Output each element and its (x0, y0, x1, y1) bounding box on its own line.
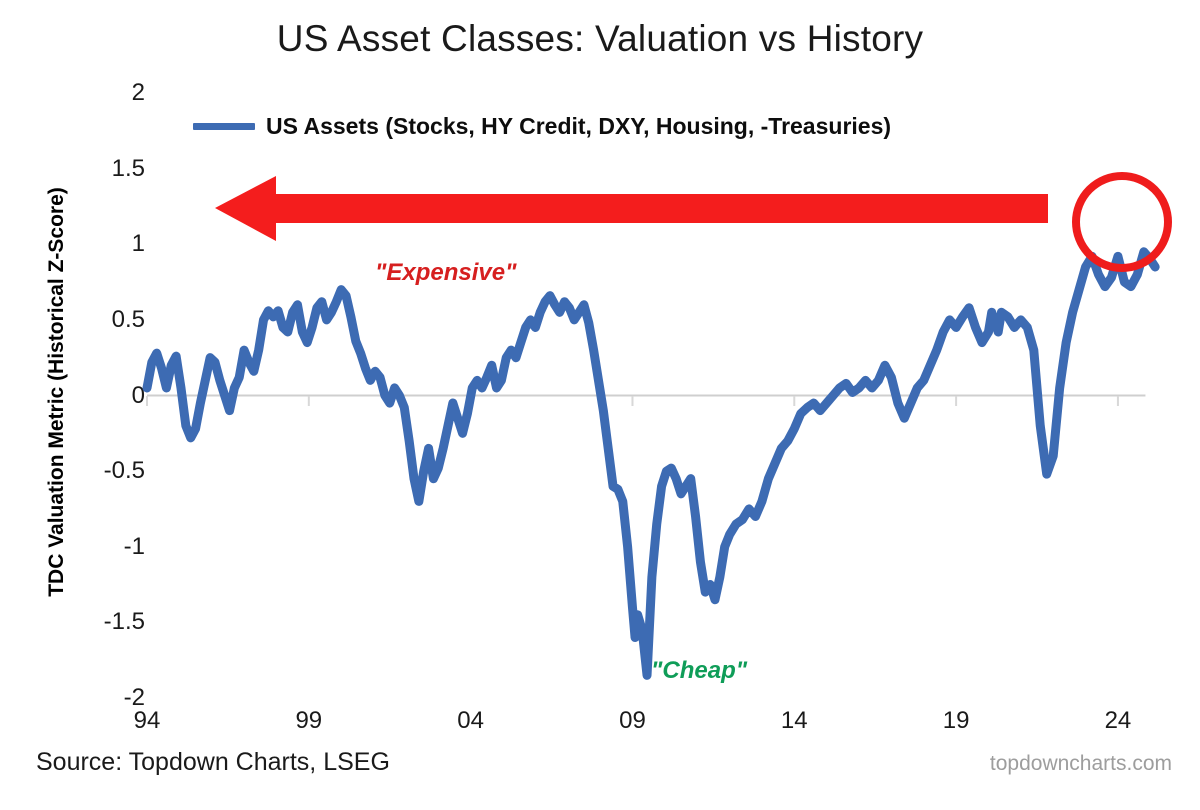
source-note: Source: Topdown Charts, LSEG (36, 748, 390, 777)
red-left-arrow (215, 176, 1048, 241)
annotation-expensive: "Expensive" (375, 259, 517, 287)
annotation-cheap: "Cheap" (651, 657, 747, 685)
watermark: topdowncharts.com (990, 752, 1172, 776)
annotation-layer (0, 0, 1200, 810)
red-highlight-circle (1076, 176, 1168, 268)
chart-root: US Asset Classes: Valuation vs History T… (0, 0, 1200, 810)
